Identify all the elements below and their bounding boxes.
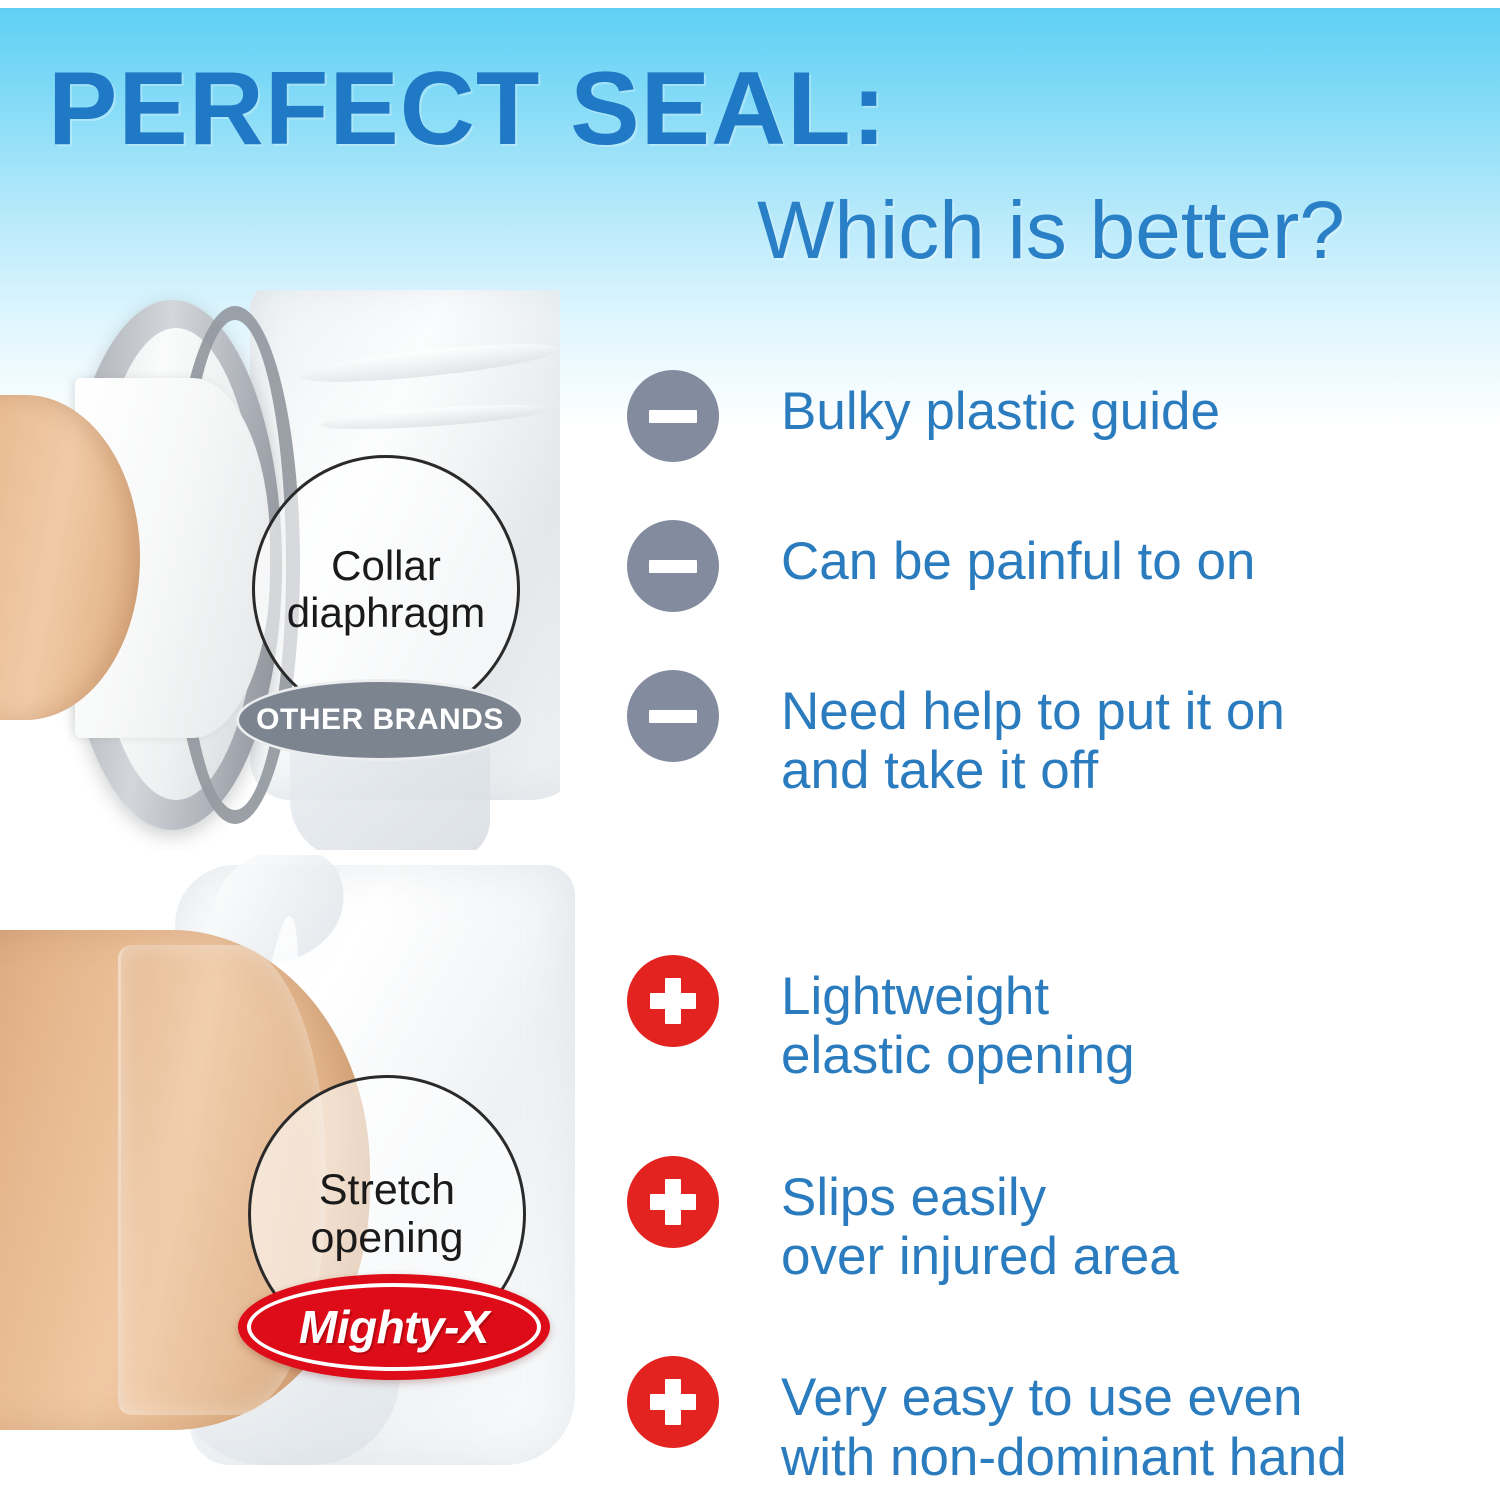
list-item: Slips easily over injured area — [627, 1156, 1487, 1287]
mighty-x-logo: Mighty-X — [238, 1274, 550, 1380]
mighty-x-logo-label: Mighty-X — [299, 1300, 489, 1354]
list-item: Can be painful to on — [627, 520, 1467, 612]
plus-icon — [627, 955, 719, 1047]
minus-icon — [627, 520, 719, 612]
list-item: Bulky plastic guide — [627, 370, 1467, 462]
list-item-label: Can be painful to on — [781, 520, 1255, 591]
callout-collar-diaphragm-label: Collar diaphragm — [287, 542, 485, 636]
list-item: Very easy to use even with non-dominant … — [627, 1356, 1487, 1487]
list-item-label: Very easy to use even with non-dominant … — [781, 1356, 1347, 1487]
list-item: Lightweight elastic opening — [627, 955, 1487, 1086]
other-brands-badge-label: OTHER BRANDS — [256, 703, 504, 737]
background-top-strip — [0, 0, 1500, 8]
list-item-label: Need help to put it on and take it off — [781, 670, 1285, 801]
minus-icon — [627, 370, 719, 462]
minus-icon — [627, 670, 719, 762]
list-item-label: Slips easily over injured area — [781, 1156, 1179, 1287]
infographic-canvas: PERFECT SEAL: Which is better? Collar di… — [0, 0, 1500, 1500]
list-item-label: Bulky plastic guide — [781, 370, 1220, 441]
plus-icon — [627, 1356, 719, 1448]
list-item-label: Lightweight elastic opening — [781, 955, 1135, 1086]
other-brands-badge: OTHER BRANDS — [236, 679, 524, 761]
callout-stretch-opening-label: Stretch opening — [310, 1166, 463, 1262]
page-subtitle: Which is better? — [757, 190, 1345, 272]
other-brands-cons-list: Bulky plastic guide Can be painful to on… — [627, 370, 1467, 859]
page-title: PERFECT SEAL: — [48, 57, 887, 161]
mighty-x-pros-list: Lightweight elastic opening Slips easily… — [627, 955, 1487, 1500]
list-item: Need help to put it on and take it off — [627, 670, 1467, 801]
plus-icon — [627, 1156, 719, 1248]
